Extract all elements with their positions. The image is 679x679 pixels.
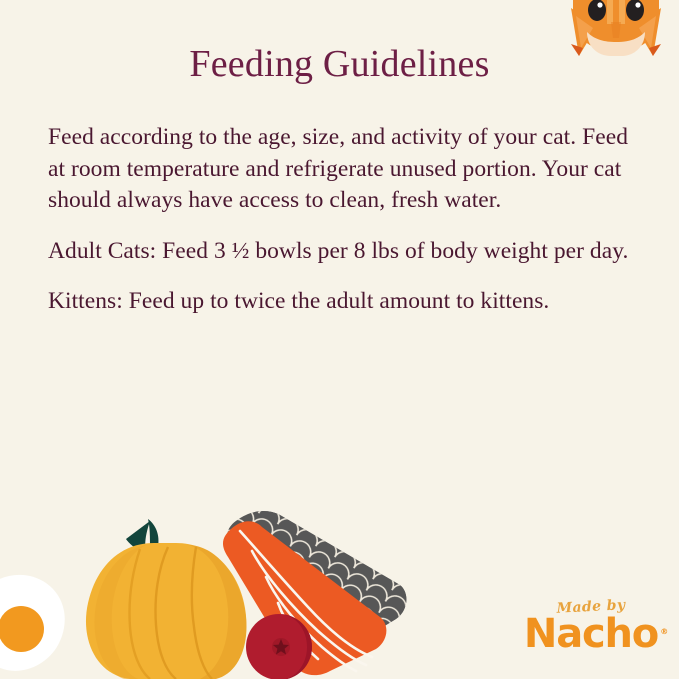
illustration-pumpkin (86, 519, 246, 679)
illustration-egg (0, 575, 65, 671)
packaging-panel: Feeding Guidelines Feed according to the… (0, 0, 679, 679)
paragraph-kittens: Kittens: Feed up to twice the adult amou… (48, 286, 638, 318)
brand-logo: Made by Nacho ® (521, 599, 661, 659)
paragraph-adult-cats: Adult Cats: Feed 3 ½ bowls per 8 lbs of … (48, 236, 638, 268)
brand-wordmark-text: Nacho (524, 611, 658, 657)
paragraph-general-feeding: Feed according to the age, size, and act… (48, 122, 638, 217)
brand-wordmark: Nacho ® (524, 613, 658, 655)
food-illustration (0, 499, 420, 679)
registered-trademark-icon: ® (660, 611, 667, 653)
page-title: Feeding Guidelines (0, 41, 679, 87)
illustration-cranberry (246, 614, 312, 679)
feeding-guidelines-text: Feed according to the age, size, and act… (48, 122, 638, 318)
